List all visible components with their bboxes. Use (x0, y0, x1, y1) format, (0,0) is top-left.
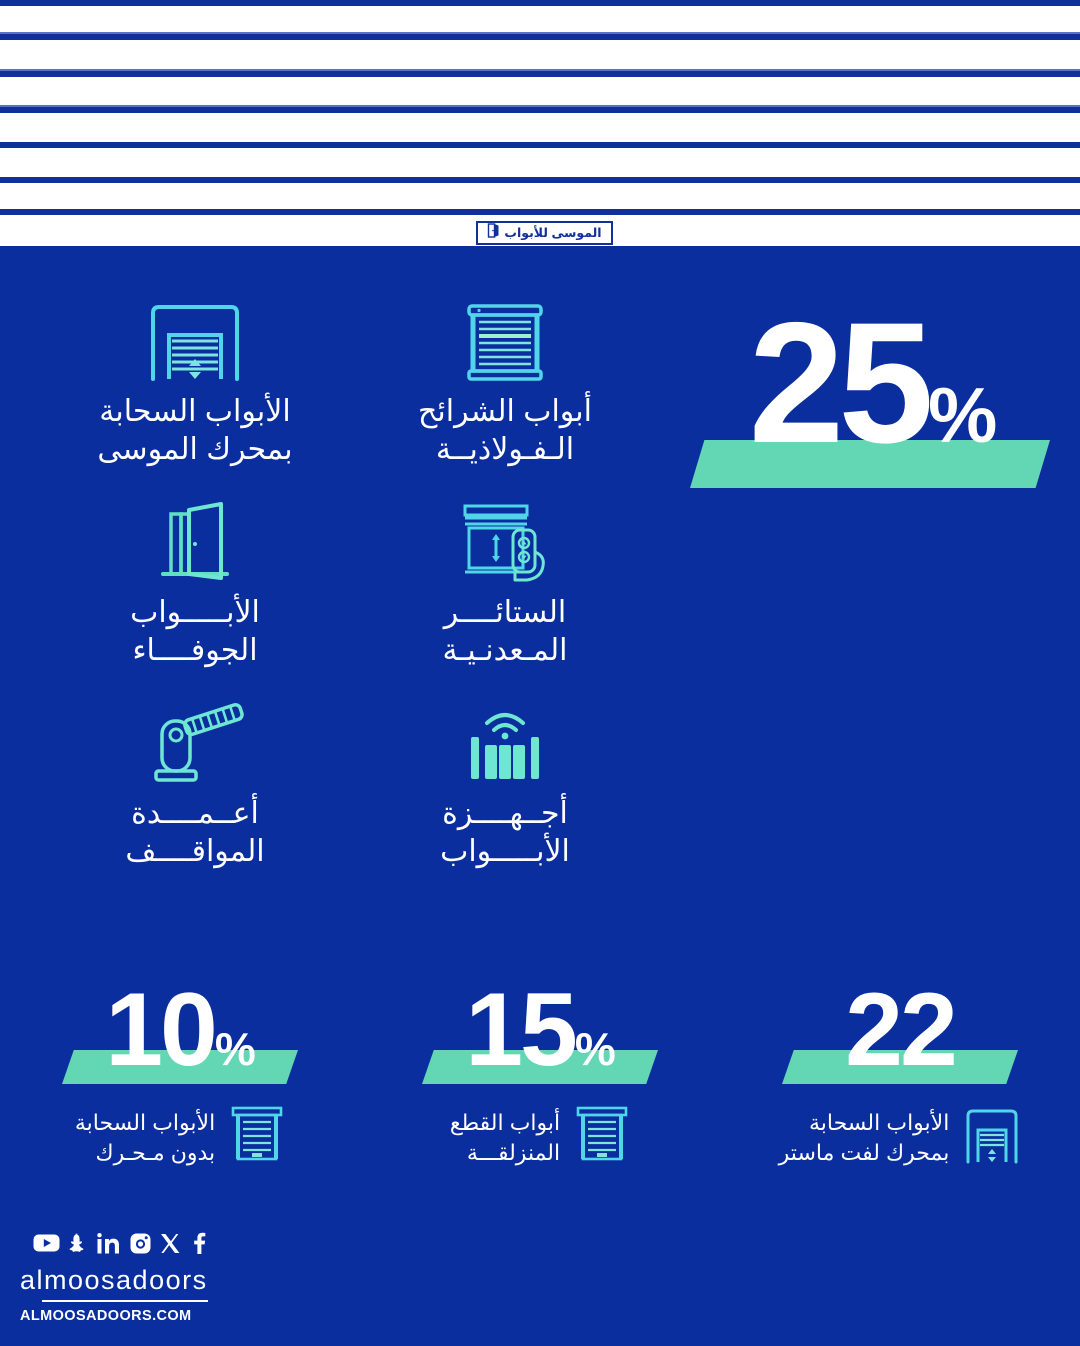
category-metal-shutters[interactable]: الستائــــر المـعدنـيـة (350, 492, 660, 693)
percent-sign: % (215, 1023, 255, 1075)
category-label: أبواب الشرائح الـفـولاذيــة (350, 393, 660, 470)
category-row: الأبـــــواب الجوفــــاء (40, 492, 660, 693)
stat-label: الأبواب السحابة بدون مـحـرك (75, 1108, 215, 1167)
category-label: أعــمــــدة المواقــــف (40, 795, 350, 872)
stat-value: 15% (370, 976, 710, 1085)
category-label: الأبـــــواب الجوفــــاء (40, 594, 350, 671)
x-twitter-icon[interactable] (160, 1233, 180, 1259)
stat-label: الأبواب السحابة بمحرك لفت ماستر (779, 1108, 950, 1167)
footer-divider (42, 1300, 208, 1302)
social-icons-row (20, 1232, 208, 1259)
featured-discount-value: 25% (682, 296, 1062, 471)
door-mark-icon (487, 223, 500, 243)
stat-sliding-sectional-doors[interactable]: 15% أبواب القطع المنزلقـــة (370, 976, 710, 1171)
open-door-icon (40, 492, 350, 584)
garage-rolling-door-icon (40, 291, 350, 383)
linkedin-icon[interactable] (97, 1233, 121, 1259)
stat-badge: 15% (370, 976, 710, 1094)
sectional-shutter-small-icon (574, 1104, 630, 1171)
stripe-line (0, 71, 1080, 77)
stat-label: أبواب القطع المنزلقـــة (450, 1108, 560, 1167)
category-door-devices[interactable]: أجــهــــزة الأبـــــواب (350, 693, 660, 894)
stat-badge: 10% (10, 976, 350, 1094)
stripe-line (0, 0, 1080, 6)
instagram-icon[interactable] (130, 1233, 151, 1259)
social-handle: almoosadoors (20, 1265, 208, 1296)
featured-discount-badge: 25% (682, 296, 1062, 496)
category-rolling-doors-almoosa-motor[interactable]: الأبواب السحابة بمحرك الموسى (40, 291, 350, 492)
footer: almoosadoors ALMOOSADOORS.COM (20, 1232, 208, 1324)
snapchat-icon[interactable] (69, 1233, 88, 1259)
stat-body: الأبواب السحابة بدون مـحـرك (10, 1104, 350, 1171)
smart-door-device-icon (350, 693, 660, 785)
stripe-line (0, 209, 1080, 215)
garage-door-small-icon (963, 1104, 1021, 1171)
rolling-shutter-small-icon (229, 1104, 285, 1171)
category-steel-slat-doors[interactable]: أبواب الشرائح الـفـولاذيــة (350, 291, 660, 492)
percent-sign: % (928, 371, 995, 459)
stat-rolling-doors-no-motor[interactable]: 10% الأبواب السحابة بدون مـحـرك (10, 976, 350, 1171)
brand-logo-badge[interactable]: الموسى للأبواب (476, 221, 613, 245)
stripe-line (0, 142, 1080, 148)
stripe-line (0, 177, 1080, 183)
stat-badge: 22 (730, 976, 1070, 1094)
stripe-line (0, 107, 1080, 113)
steel-slat-shutter-icon (350, 291, 660, 383)
top-stripe-band (0, 0, 1080, 240)
category-grid: الأبواب السحابة بمحرك الموسى (40, 291, 660, 893)
website-url: ALMOOSADOORS.COM (20, 1308, 208, 1324)
stat-value: 10% (10, 976, 350, 1085)
stat-body: أبواب القطع المنزلقـــة (370, 1104, 710, 1171)
window-shutter-remote-icon (350, 492, 660, 584)
category-label: الستائــــر المـعدنـيـة (350, 594, 660, 671)
youtube-icon[interactable] (33, 1233, 60, 1258)
category-label: الأبواب السحابة بمحرك الموسى (40, 393, 350, 470)
stats-row: 10% الأبواب السحابة بدون مـحـرك (0, 976, 1080, 1171)
stat-value: 22 (730, 976, 1070, 1085)
percent-sign: % (575, 1023, 615, 1075)
category-row: الأبواب السحابة بمحرك الموسى (40, 291, 660, 492)
parking-barrier-icon (40, 693, 350, 785)
facebook-icon[interactable] (189, 1232, 208, 1259)
stripe-line (0, 34, 1080, 40)
category-parking-barriers[interactable]: أعــمــــدة المواقــــف (40, 693, 350, 894)
main-blue-panel: 25% (0, 246, 1080, 1346)
stat-body: الأبواب السحابة بمحرك لفت ماستر (730, 1104, 1070, 1171)
stat-rolling-doors-liftmaster[interactable]: 22 الأبواب السحابة بمحرك لفت ماستر (730, 976, 1070, 1171)
brand-logo-text: الموسى للأبواب (504, 227, 601, 240)
category-hollow-doors[interactable]: الأبـــــواب الجوفــــاء (40, 492, 350, 693)
category-label: أجــهــــزة الأبـــــواب (350, 795, 660, 872)
category-row: أعــمــــدة المواقــــف (40, 693, 660, 894)
